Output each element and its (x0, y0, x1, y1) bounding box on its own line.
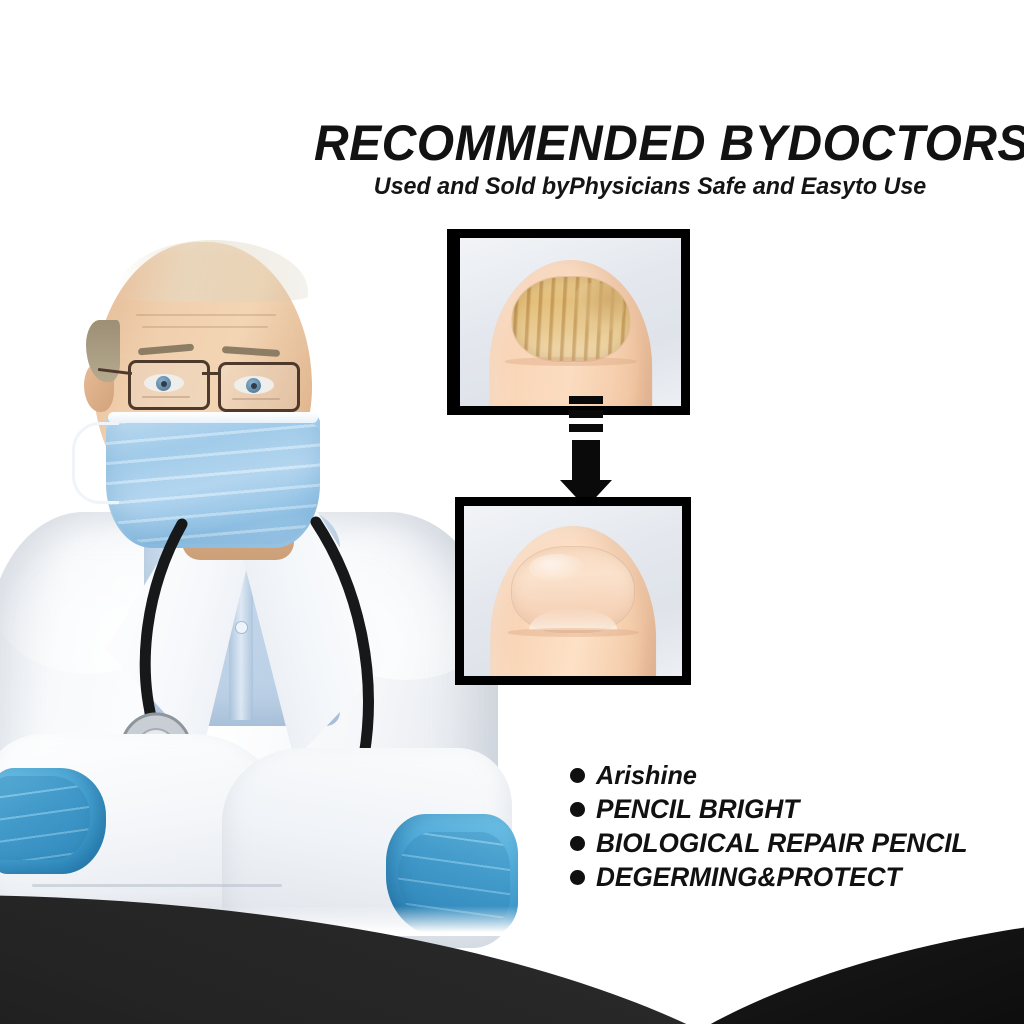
feature-label: Arishine (596, 762, 697, 788)
cuticle-line (508, 628, 639, 637)
eyeglasses-lens-right (218, 362, 300, 412)
nail-highlight (529, 554, 585, 583)
forehead-crease (136, 314, 276, 316)
feature-list: Arishine PENCIL BRIGHT BIOLOGICAL REPAIR… (570, 758, 1020, 894)
shirt-button (236, 622, 247, 633)
list-item: BIOLOGICAL REPAIR PENCIL (570, 826, 1020, 860)
feature-label: DEGERMING&PROTECT (596, 864, 902, 891)
page-subtitle: Used and Sold byPhysicians Safe and Easy… (311, 175, 990, 199)
arrow-shaft (572, 440, 600, 484)
infected-nail (512, 277, 629, 361)
after-photo (464, 506, 682, 676)
list-item: DEGERMING&PROTECT (570, 860, 1020, 894)
healthy-nail (512, 547, 634, 632)
list-item: PENCIL BRIGHT (570, 792, 1020, 826)
down-arrow-icon (556, 396, 616, 508)
nitrile-glove-left-fingers (0, 776, 90, 860)
arrow-dashed-segments (569, 396, 603, 438)
surgical-mask-nose-band (108, 412, 318, 423)
before-photo-frame (447, 229, 690, 415)
bullet-dot-icon (570, 836, 585, 851)
list-item: Arishine (570, 758, 1020, 792)
forehead-crease (142, 326, 268, 328)
before-photo (460, 238, 681, 406)
nail-lunula (529, 608, 617, 630)
sleeve-crease (32, 884, 282, 887)
feature-label: PENCIL BRIGHT (596, 796, 799, 823)
poster-canvas: RECOMMENDED BYDOCTORS Used and Sold byPh… (0, 0, 1024, 1024)
after-photo-frame (455, 497, 691, 685)
page-title: RECOMMENDED BYDOCTORS (314, 118, 986, 168)
feature-label: BIOLOGICAL REPAIR PENCIL (596, 830, 968, 857)
surgical-mask-ear-loop (72, 422, 119, 504)
surgical-mask-pleats (106, 422, 320, 544)
headline-block: RECOMMENDED BYDOCTORS Used and Sold byPh… (300, 118, 1000, 199)
bullet-dot-icon (570, 870, 585, 885)
bullet-dot-icon (570, 768, 585, 783)
bullet-dot-icon (570, 802, 585, 817)
eyeglasses-bridge (202, 372, 220, 375)
eyeglasses-lens-left (128, 360, 210, 410)
